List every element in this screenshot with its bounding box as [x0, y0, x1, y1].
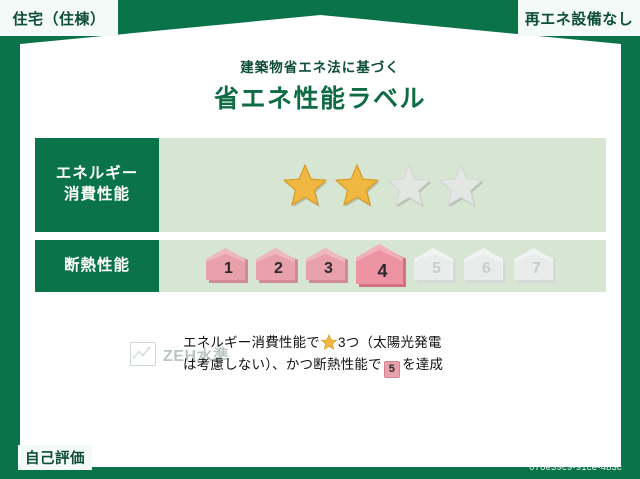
insulation-performance-label: 断熱性能 [35, 240, 159, 292]
note-text-line2-b: を達成 [402, 357, 443, 372]
insulation-performance-row: 断熱性能 1234567 [35, 240, 606, 292]
star-filled-icon [334, 163, 380, 207]
page-title: 省エネ性能ラベル [0, 79, 640, 115]
inline-star-icon [321, 334, 337, 350]
title-subtitle: 建築物省エネ法に基づく [0, 56, 640, 76]
energy-performance-label: エネルギー 消費性能 [35, 138, 159, 232]
evaluation-id: 076e39c9-91ce-4b3c [488, 462, 622, 473]
building-type-badge: 住宅（住棟） [0, 0, 118, 36]
energy-star-rating [159, 138, 606, 232]
note-text-before-star: エネルギー消費性能で [183, 335, 320, 350]
insulation-level-filled: 2 [255, 247, 302, 285]
note-star-count-text: 3つ（太陽光発電 [338, 335, 442, 350]
self-evaluation-badge: 自己評価 [18, 445, 92, 470]
renewable-equipment-badge: 再エネ設備なし [518, 0, 640, 36]
zeh-icon [130, 342, 156, 366]
insulation-level-filled: 1 [205, 247, 252, 285]
insulation-level-empty: 5 [413, 247, 460, 285]
title-block: 建築物省エネ法に基づく 省エネ性能ラベル [0, 56, 640, 115]
insulation-level-filled: 3 [305, 247, 352, 285]
insulation-level-empty: 6 [463, 247, 510, 285]
achievement-description: エネルギー消費性能で3つ（太陽光発電 は考慮しない）、かつ断熱性能で5を達成 [183, 332, 443, 378]
note-text-line2-a: は考慮しない）、かつ断熱性能で [183, 357, 382, 372]
zeh-note-block: ZEH水準 エネルギー消費性能で3つ（太陽光発電 は考慮しない）、かつ断熱性能で… [35, 332, 606, 378]
property-address: 神奈川県小田原市中町１丁目 [99, 448, 278, 468]
energy-label-line2: 消費性能 [64, 185, 130, 206]
insulation-level-chip: 5 [384, 361, 400, 378]
footer-right: 評価日 2025年9月2日 076e39c9-91ce-4b3c [488, 440, 622, 473]
star-filled-icon [282, 163, 328, 207]
star-empty-icon [386, 163, 432, 207]
insulation-label-line1: 断熱性能 [64, 256, 130, 277]
zeh-standard-marker: ZEH水準 [35, 332, 155, 366]
insulation-level-current: 4 [355, 243, 410, 289]
footer: 自己評価 神奈川県小田原市中町１丁目 評価日 2025年9月2日 076e39c… [0, 435, 640, 479]
renewable-equipment-label: 再エネ設備なし [525, 8, 634, 29]
insulation-level-scale: 1234567 [159, 240, 606, 292]
energy-performance-row: エネルギー 消費性能 [35, 138, 606, 232]
insulation-level-empty: 7 [513, 247, 560, 285]
star-empty-icon [438, 163, 484, 207]
evaluation-date: 評価日 2025年9月2日 [488, 440, 622, 460]
footer-left: 自己評価 神奈川県小田原市中町１丁目 [18, 445, 278, 470]
energy-label-line1: エネルギー [56, 164, 139, 185]
energy-label-card: 住宅（住棟） 再エネ設備なし 建築物省エネ法に基づく 省エネ性能ラベル ハウスコ… [0, 0, 640, 479]
building-type-label: 住宅（住棟） [12, 8, 105, 29]
